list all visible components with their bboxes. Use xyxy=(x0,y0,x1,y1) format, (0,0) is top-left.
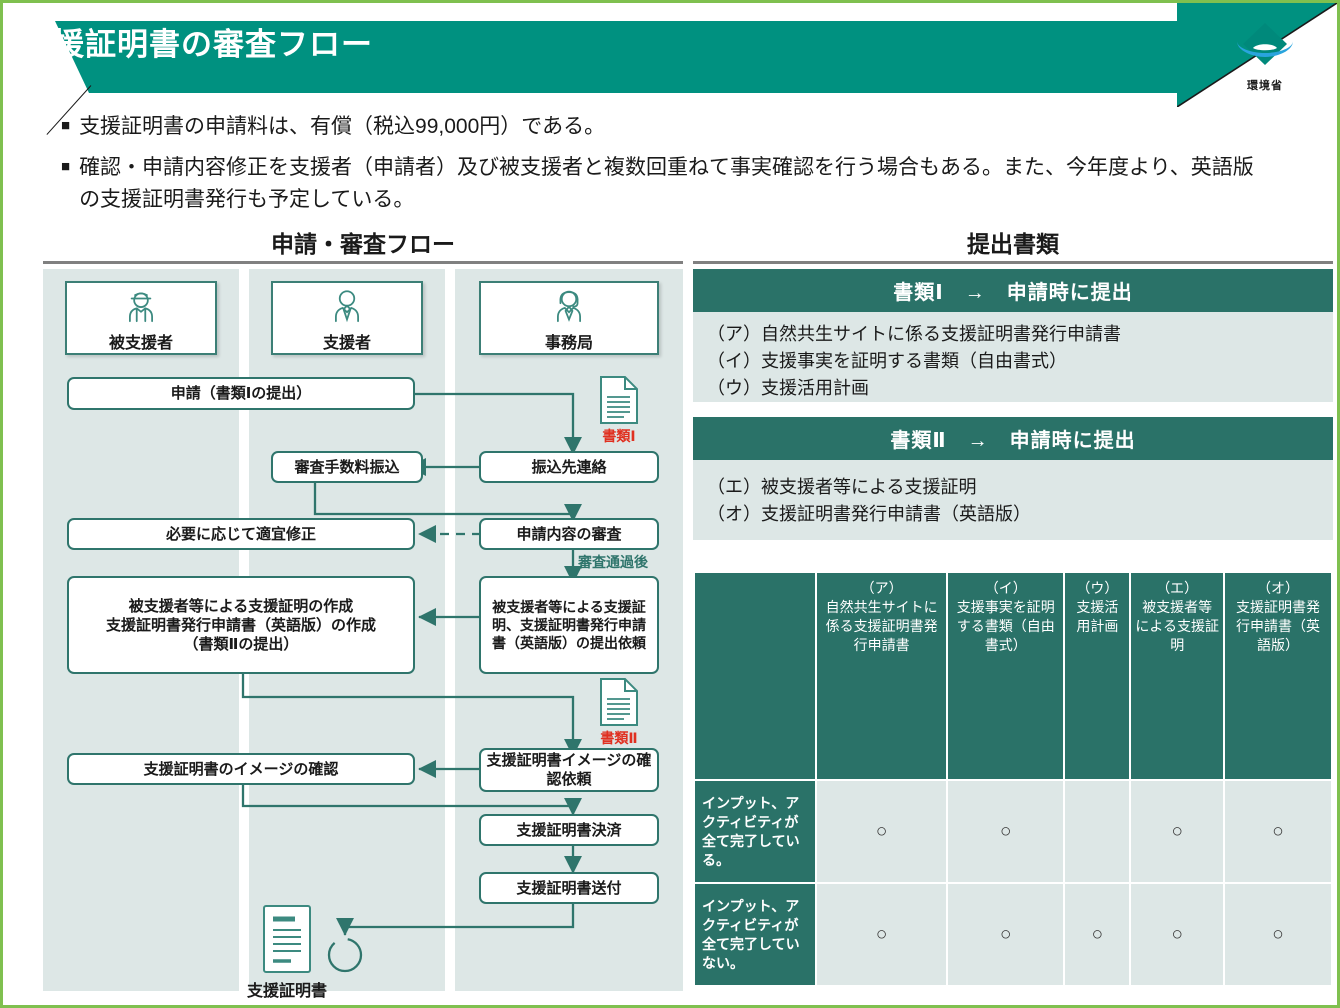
documents-heading-rule xyxy=(693,261,1333,264)
actor-label: 事務局 xyxy=(545,329,593,353)
flow-node-create-proof[interactable]: 被支援者等による支援証明の作成 支援証明書発行申請書（英語版）の作成 （書類Ⅱの… xyxy=(67,576,415,674)
flow-node-dispatch[interactable]: 支援証明書送付 xyxy=(479,872,659,904)
matrix-cell: ○ xyxy=(947,883,1064,986)
requirements-matrix: （ア） 自然共生サイトに係る支援証明書発行申請書 （イ） 支援事実を証明する書類… xyxy=(693,571,1333,987)
flow-node-application[interactable]: 申請（書類Ⅰの提出） xyxy=(67,377,415,410)
matrix-cell: ○ xyxy=(947,780,1064,883)
matrix-row-label: インプット、アクティビティが全て完了している。 xyxy=(694,780,816,883)
flow-node-confirm-image[interactable]: 支援証明書のイメージの確認 xyxy=(67,753,415,785)
matrix-col-a: （ア） 自然共生サイトに係る支援証明書発行申請書 xyxy=(816,572,947,780)
matrix-col-u: （ウ） 支援活用計画 xyxy=(1064,572,1130,780)
document-section-1: 書類Ⅰ → 申請時に提出 （ア）自然共生サイトに係る支援証明書発行申請書 （イ）… xyxy=(693,269,1333,402)
matrix-cell: ○ xyxy=(816,883,947,986)
logo-label: 環境省 xyxy=(1217,77,1313,93)
matrix-cell: ○ xyxy=(1224,780,1332,883)
flow-node-request-submission-label: 被支援者等による支援証明、支援証明書発行申請書（英語版）の提出依頼 xyxy=(486,598,652,652)
ministry-logo-icon xyxy=(1227,17,1303,71)
flow-section-heading: 申請・審査フロー xyxy=(43,225,683,259)
flow-diagram: 被支援者 支援者 事務局 xyxy=(43,269,683,991)
flow-node-request-submission[interactable]: 被支援者等による支援証明、支援証明書発行申請書（英語版）の提出依頼 xyxy=(479,576,659,674)
matrix-col-e: （エ） 被支援者等による支援証明 xyxy=(1130,572,1224,780)
bullet-text: 確認・申請内容修正を支援者（申請者）及び被支援者と複数回重ねて事実確認を行う場合… xyxy=(79,152,1271,216)
document-section-2-header: 書類Ⅱ → 申請時に提出 xyxy=(693,417,1333,460)
page-title: 支援証明書の審査フロー xyxy=(21,19,373,64)
flow-node-settlement[interactable]: 支援証明書決済 xyxy=(479,814,659,846)
documents-panel: 書類Ⅰ → 申請時に提出 （ア）自然共生サイトに係る支援証明書発行申請書 （イ）… xyxy=(693,269,1333,991)
bullet-item: ■ 確認・申請内容修正を支援者（申請者）及び被支援者と複数回重ねて事実確認を行う… xyxy=(61,152,1271,216)
flow-node-revise[interactable]: 必要に応じて適宜修正 xyxy=(67,518,415,550)
actor-label: 支援者 xyxy=(323,329,371,353)
flow-output-label: 支援証明書 xyxy=(222,977,352,1001)
matrix-cell: ○ xyxy=(1130,780,1224,883)
matrix-cell: ○ xyxy=(1064,883,1130,986)
document-section-1-body: （ア）自然共生サイトに係る支援証明書発行申請書 （イ）支援事実を証明する書類（自… xyxy=(693,312,1333,402)
flow-node-review[interactable]: 申請内容の審査 xyxy=(479,518,659,550)
actor-office: 事務局 xyxy=(479,281,659,355)
businessman-person-icon xyxy=(325,287,369,328)
document-section-2: 書類Ⅱ → 申請時に提出 （エ）被支援者等による支援証明 （オ）支援証明書発行申… xyxy=(693,417,1333,540)
matrix-cell xyxy=(1064,780,1130,883)
actor-supporter: 支援者 xyxy=(271,281,423,355)
logo: 環境省 xyxy=(1217,17,1313,93)
matrix-cell: ○ xyxy=(1224,883,1332,986)
matrix-col-i: （イ） 支援事実を証明する書類（自由書式） xyxy=(947,572,1064,780)
matrix-corner-cell xyxy=(694,572,816,780)
matrix-header-row: （ア） 自然共生サイトに係る支援証明書発行申請書 （イ） 支援事実を証明する書類… xyxy=(694,572,1332,780)
documents-section-heading: 提出書類 xyxy=(693,225,1333,259)
flow-node-image-confirm-request-label: 支援証明書イメージの確認依頼 xyxy=(486,751,652,789)
matrix-cell: ○ xyxy=(1130,883,1224,986)
flow-node-fee-transfer[interactable]: 審査手数料振込 xyxy=(271,451,423,483)
flow-note-after-approval: 審査通過後 xyxy=(578,552,648,572)
bullet-item: ■ 支援証明書の申請料は、有償（税込99,000円）である。 xyxy=(61,111,1271,143)
operator-headset-person-icon xyxy=(547,287,591,328)
flow-node-create-proof-label: 被支援者等による支援証明の作成 支援証明書発行申請書（英語版）の作成 （書類Ⅱの… xyxy=(106,597,376,654)
matrix-row: インプット、アクティビティが全て完了している。 ○ ○ ○ ○ xyxy=(694,780,1332,883)
flow-heading-rule xyxy=(43,261,683,264)
bullet-marker: ■ xyxy=(61,111,70,141)
bullet-text: 支援証明書の申請料は、有償（税込99,000円）である。 xyxy=(79,111,605,143)
matrix-col-o: （オ） 支援証明書発行申請書（英語版） xyxy=(1224,572,1332,780)
document-section-2-body: （エ）被支援者等による支援証明 （オ）支援証明書発行申請書（英語版） xyxy=(693,460,1333,540)
document-icon xyxy=(598,375,640,425)
document-tag-2: 書類Ⅱ xyxy=(579,728,659,748)
certificate-document-icon xyxy=(261,903,313,975)
actor-label: 被支援者 xyxy=(109,329,173,353)
farmer-person-icon xyxy=(119,287,163,328)
actor-recipient: 被支援者 xyxy=(65,281,217,355)
bullet-marker: ■ xyxy=(61,152,70,182)
flow-node-image-confirm-request[interactable]: 支援証明書イメージの確認依頼 xyxy=(479,748,659,792)
matrix-row-label: インプット、アクティビティが全て完了していない。 xyxy=(694,883,816,986)
document-item: （ア）自然共生サイトに係る支援証明書発行申請書 xyxy=(707,321,1319,348)
document-icon xyxy=(598,677,640,727)
document-tag-1: 書類Ⅰ xyxy=(579,426,659,446)
document-item: （イ）支援事実を証明する書類（自由書式） xyxy=(707,348,1319,375)
matrix-row: インプット、アクティビティが全て完了していない。 ○ ○ ○ ○ ○ xyxy=(694,883,1332,986)
slide-root: 支援証明書の審査フロー 環境省 ■ 支援証明書の申請料は、有償（税込99,000… xyxy=(0,0,1340,1008)
document-item: （オ）支援証明書発行申請書（英語版） xyxy=(707,501,1319,528)
bullet-list: ■ 支援証明書の申請料は、有償（税込99,000円）である。 ■ 確認・申請内容… xyxy=(61,111,1271,225)
matrix-cell: ○ xyxy=(816,780,947,883)
document-section-1-header: 書類Ⅰ → 申請時に提出 xyxy=(693,269,1333,312)
document-item: （エ）被支援者等による支援証明 xyxy=(707,474,1319,501)
flow-node-transfer-info[interactable]: 振込先連絡 xyxy=(479,451,659,483)
document-item: （ウ）支援活用計画 xyxy=(707,375,1319,402)
